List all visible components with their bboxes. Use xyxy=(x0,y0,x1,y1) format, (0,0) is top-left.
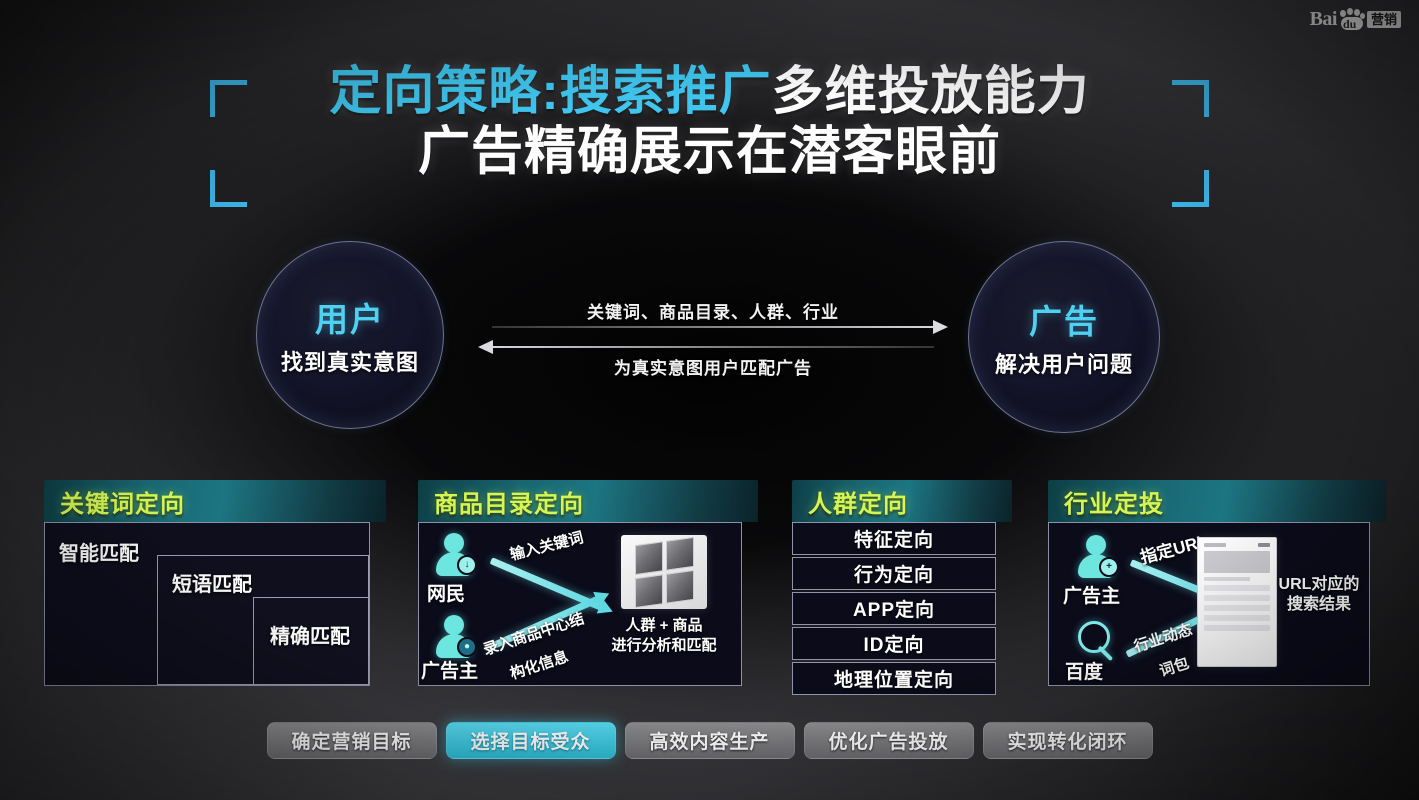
ad-circle-title: 广告 xyxy=(1029,295,1099,343)
catalog-result-caption-2: 进行分析和匹配 xyxy=(605,637,723,655)
slide-canvas: Bai du 营销 定向策略:搜索推广多维投放能力 广告精确展示在潜客眼前 用户… xyxy=(0,0,1419,800)
industry-advertiser-label: 广告主 xyxy=(1063,581,1120,608)
panel-keyword-header-label: 关键词定向 xyxy=(60,484,185,519)
panel-keyword-targeting[interactable]: 关键词定向 智能匹配 短语匹配 精确匹配 xyxy=(44,480,370,686)
baidu-marketing-logo: Bai du 营销 xyxy=(1310,8,1401,31)
crowd-row-geo[interactable]: 地理位置定向 xyxy=(792,662,996,695)
title-block: 定向策略:搜索推广多维投放能力 广告精确展示在潜客眼前 xyxy=(0,62,1419,183)
ad-circle: 广告 解决用户问题 xyxy=(968,241,1160,433)
nested-label-phrase-match: 短语匹配 xyxy=(172,568,252,597)
panel-catalog-header-label: 商品目录定向 xyxy=(434,484,584,519)
product-cubes-icon xyxy=(621,535,707,609)
tab-define-marketing-goal[interactable]: 确定营销目标 xyxy=(267,722,437,759)
serp-page-icon xyxy=(1197,537,1277,667)
crowd-row-feature[interactable]: 特征定向 xyxy=(792,522,996,555)
panel-crowd-targeting[interactable]: 人群定向 特征定向 行为定向 APP定向 ID定向 地理位置定向 xyxy=(792,480,996,684)
arrow-industry-trend-label-2: 词包 xyxy=(1156,652,1191,681)
nested-label-smart-match: 智能匹配 xyxy=(59,537,139,566)
corner-bracket-bottom-right-icon xyxy=(1172,170,1209,207)
netizen-person-icon: ↓ xyxy=(433,533,475,577)
crowd-row-behavior[interactable]: 行为定向 xyxy=(792,557,996,590)
panel-crowd-header-label: 人群定向 xyxy=(808,484,908,519)
user-circle-subtitle: 找到真实意图 xyxy=(281,345,419,377)
arrow-right-head-icon xyxy=(933,320,948,334)
arrow-left-line xyxy=(492,346,934,348)
arrow-bottom-label: 为真实意图用户匹配广告 xyxy=(478,354,948,379)
tab-optimize-delivery[interactable]: 优化广告投放 xyxy=(804,722,974,759)
user-circle: 用户 找到真实意图 xyxy=(256,241,444,429)
panel-crowd-header: 人群定向 xyxy=(792,480,1012,522)
industry-advertiser-badge-icon: + xyxy=(1099,557,1119,577)
panel-catalog-header: 商品目录定向 xyxy=(418,480,758,522)
advertiser-person-icon: ● xyxy=(433,615,475,659)
baidu-label: 百度 xyxy=(1065,657,1103,684)
title-rest: 多维投放能力 xyxy=(772,63,1090,121)
industry-result-caption-1: URL对应的 xyxy=(1271,575,1367,594)
corner-bracket-top-right-icon xyxy=(1172,80,1209,117)
advertiser-badge-icon: ● xyxy=(457,637,477,657)
nested-box-exact-match: 精确匹配 xyxy=(253,597,369,685)
tab-select-target-audience[interactable]: 选择目标受众 xyxy=(446,722,616,759)
catalog-result-caption-1: 人群 + 商品 xyxy=(615,617,713,635)
panel-industry-header: 行业定投 xyxy=(1048,480,1386,522)
panel-industry-body: + 广告主 百度 指定URL 行业动态 词包 URL对应的 搜索结果 xyxy=(1048,522,1370,686)
corner-bracket-bottom-left-icon xyxy=(210,170,247,207)
title-highlight: 定向策略:搜索推广 xyxy=(329,63,771,121)
user-circle-title: 用户 xyxy=(315,293,385,341)
crowd-row-id[interactable]: ID定向 xyxy=(792,627,996,660)
nested-label-exact-match: 精确匹配 xyxy=(270,620,350,649)
arrow-left-head-icon xyxy=(478,340,493,354)
panel-keyword-body: 智能匹配 短语匹配 精确匹配 xyxy=(44,522,370,686)
netizen-label: 网民 xyxy=(427,579,465,606)
step-tabs: 确定营销目标 选择目标受众 高效内容生产 优化广告投放 实现转化闭环 xyxy=(0,722,1419,759)
arrow-catalog-upload-label-1: 录入商品中心结 xyxy=(480,607,586,659)
logo-du-text: du xyxy=(1343,17,1356,32)
netizen-badge-icon: ↓ xyxy=(457,555,477,575)
tab-conversion-loop[interactable]: 实现转化闭环 xyxy=(983,722,1153,759)
arrow-right-line xyxy=(492,326,934,328)
tab-efficient-content[interactable]: 高效内容生产 xyxy=(625,722,795,759)
paw-icon: du xyxy=(1339,9,1365,31)
crowd-row-app[interactable]: APP定向 xyxy=(792,592,996,625)
industry-result-caption-2: 搜索结果 xyxy=(1271,595,1367,614)
ad-circle-subtitle: 解决用户问题 xyxy=(995,347,1133,379)
corner-bracket-top-left-icon xyxy=(210,80,247,117)
panel-industry-header-label: 行业定投 xyxy=(1064,484,1164,519)
bidirectional-arrows: 关键词、商品目录、人群、行业 为真实意图用户匹配广告 xyxy=(478,296,948,386)
panel-catalog-body: ↓ 网民 ● 广告主 输入关键词 录入商品中心结 构化信息 人群 + 商品 进行… xyxy=(418,522,742,686)
arrow-industry-trend-label-1: 行业动态 xyxy=(1131,618,1195,657)
industry-advertiser-person-icon: + xyxy=(1075,535,1117,579)
panel-keyword-header: 关键词定向 xyxy=(44,480,386,522)
panel-catalog-targeting[interactable]: 商品目录定向 ↓ 网民 ● 广告主 输入关键词 录入商品中心结 构化信息 xyxy=(418,480,742,686)
panel-crowd-body: 特征定向 行为定向 APP定向 ID定向 地理位置定向 xyxy=(792,522,996,684)
arrow-catalog-upload-label-2: 构化信息 xyxy=(507,645,571,684)
arrow-top-label: 关键词、商品目录、人群、行业 xyxy=(478,298,948,323)
crowd-row-list: 特征定向 行为定向 APP定向 ID定向 地理位置定向 xyxy=(792,522,996,695)
advertiser-label: 广告主 xyxy=(421,656,478,683)
panel-industry-targeting[interactable]: 行业定投 + 广告主 百度 指定URL 行业动态 词包 xyxy=(1048,480,1370,686)
arrow-input-keyword-label: 输入关键词 xyxy=(508,526,586,565)
logo-marketing-text: 营销 xyxy=(1367,11,1401,28)
logo-bai-text: Bai xyxy=(1310,8,1337,31)
